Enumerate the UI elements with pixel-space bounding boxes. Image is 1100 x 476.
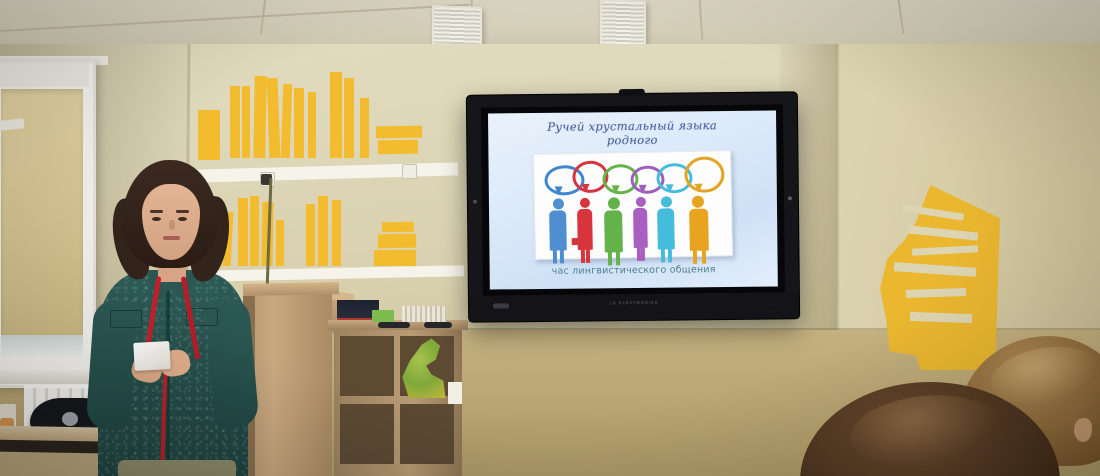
book-decal [253, 76, 266, 158]
window-sill [0, 370, 96, 384]
figure-green-body [604, 210, 623, 252]
book-decal [376, 126, 422, 139]
wall-sensor [402, 164, 417, 179]
book-decal [306, 204, 315, 266]
stacked-books-decal [880, 185, 1000, 370]
display-indicator-dots: · · · · · [756, 301, 785, 306]
shelf-cell [340, 336, 394, 396]
figure-red [577, 198, 599, 256]
presenter-name-badge [133, 341, 170, 371]
window-frame [0, 60, 96, 388]
presenter-nose [169, 220, 175, 230]
bubble-gold [684, 156, 725, 193]
figure-green-head [608, 197, 620, 209]
figure-gold-head [692, 196, 704, 208]
ceiling-grid-line [898, 0, 905, 34]
presenter-eyebrow [150, 210, 163, 213]
figure-red-leg [581, 249, 585, 263]
book-decal [198, 134, 220, 160]
figure-purple-body [633, 208, 648, 248]
figure-cyan-leg [661, 248, 665, 262]
book-decal [294, 88, 304, 158]
book-decal [242, 86, 250, 158]
figure-purple [633, 197, 654, 255]
shelf-cell [400, 404, 454, 464]
figure-purple-head [636, 197, 646, 207]
book-decal [198, 110, 220, 136]
book-decal [382, 222, 414, 233]
figure-red-leg [586, 249, 590, 263]
book-decal [281, 84, 293, 158]
figure-blue-body [549, 210, 567, 250]
figure-green [604, 197, 629, 255]
book-decal [230, 86, 240, 158]
book-decal [330, 72, 342, 158]
display-camera-icon [619, 89, 645, 96]
shelf-card [448, 382, 462, 404]
display-ir-receiver-icon [493, 303, 509, 308]
figure-red-head [580, 198, 590, 208]
presenter [88, 160, 278, 476]
presentation-slide: Ручей хрустальный языка родного час линг… [488, 110, 778, 289]
figure-cyan-head [661, 196, 672, 207]
slide-title: Ручей хрустальный языка родного [507, 118, 757, 149]
pen-holder [402, 306, 446, 322]
book-decal [308, 92, 316, 158]
figure-green-leg [616, 251, 620, 265]
shelf-cell [340, 404, 394, 464]
slide-caption: час лингвистического общения [552, 264, 716, 277]
book-decal [360, 98, 369, 158]
book-decal [344, 78, 354, 158]
briefcase [572, 238, 581, 245]
remote-control[interactable] [424, 322, 452, 328]
figure-blue-leg [560, 249, 564, 263]
display-brand-label: LG ELECTRONICS [610, 300, 659, 306]
presenter-skirt [118, 460, 236, 476]
presenter-pocket [110, 310, 142, 328]
display-inner-bezel: Ручей хрустальный языка родного час линг… [481, 104, 785, 295]
figure-gold-leg [702, 250, 706, 264]
remote-control[interactable] [378, 322, 410, 328]
presenter-eye [178, 217, 187, 221]
bubble-red-tail [582, 184, 590, 193]
ceiling-grid-line [699, 0, 704, 40]
classroom-photo: Ручей хрустальный языка родного час линг… [0, 0, 1100, 476]
speech-bubble-group [544, 156, 721, 195]
window-glass [1, 335, 83, 357]
figure-purple-leg [641, 247, 645, 261]
display-sensor-icon [473, 200, 477, 204]
slide-title-line-2: родного [507, 132, 757, 149]
figure-gold [689, 195, 715, 253]
book-decal [374, 250, 416, 266]
figure-blue-leg [553, 249, 557, 263]
figure-gold-leg [693, 250, 697, 264]
book-decal [378, 234, 416, 249]
display-screen[interactable]: Ручей хрустальный языка родного час линг… [488, 110, 778, 289]
figure-blue-head [553, 198, 564, 209]
baseball-cap-logo [62, 412, 78, 426]
green-box [372, 310, 394, 322]
presenter-eye [152, 217, 161, 221]
figure-cyan-leg [668, 248, 672, 262]
presenter-eyebrow [176, 210, 189, 213]
wall-display[interactable]: Ручей хрустальный языка родного час линг… [467, 92, 799, 321]
book-decal [378, 140, 418, 155]
figure-green-leg [608, 251, 612, 265]
window-header [0, 63, 89, 87]
book-decal [318, 196, 328, 266]
book-decal [332, 200, 341, 266]
figure-gold-body [689, 209, 709, 251]
people-silhouette-group [547, 191, 724, 256]
ceiling-grid-line [0, 4, 469, 32]
figure-blue [549, 198, 573, 256]
display-bottom-bezel [469, 292, 799, 321]
audience-ear [1074, 418, 1092, 442]
slide-illustration [533, 150, 733, 260]
presenter-mouth [163, 236, 180, 240]
figure-cyan-body [657, 208, 675, 249]
figure-cyan [657, 196, 681, 254]
display-sensor-icon [788, 196, 792, 200]
